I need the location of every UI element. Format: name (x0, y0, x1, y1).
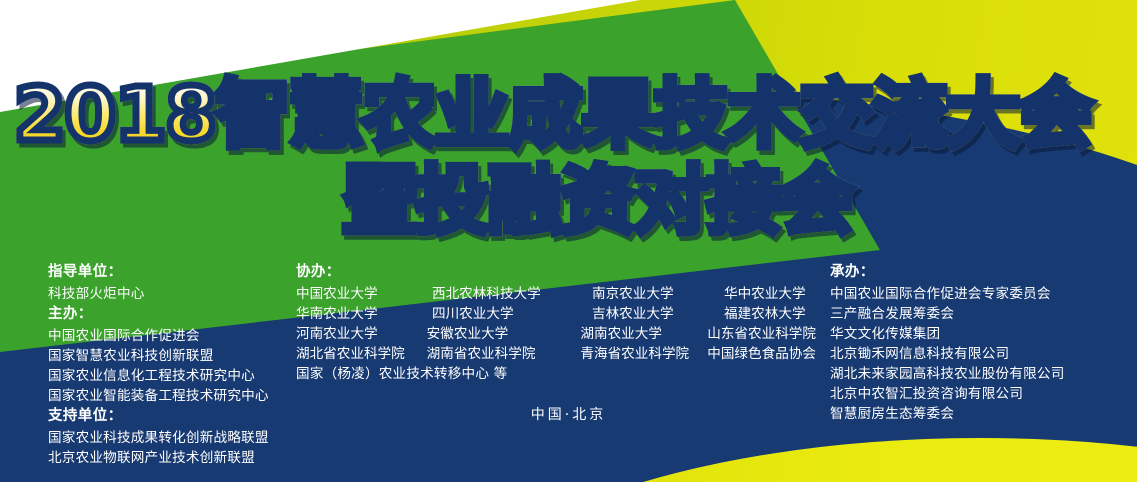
coorganizer-cell: 南京农业大学 (592, 284, 724, 304)
organizer-item-0: 中国农业国际合作促进会 (48, 326, 298, 346)
conference-banner: 2018智慧农业成果技术交流大会 暨投融资对接会 指导单位： 科技部火炬中心 主… (0, 0, 1137, 482)
host-item-3: 北京锄禾网信息科技有限公司 (830, 344, 1130, 364)
coorganizer-cell: 四川农业大学 (432, 304, 592, 324)
left-info-column: 指导单位： 科技部火炬中心 主办： 中国农业国际合作促进会 国家智慧农业科技创新… (48, 262, 298, 468)
coorganizer-row: 河南农业大学 安徽农业大学 湖南农业大学 山东省农业科学院 (296, 324, 816, 344)
organizer-item-2: 国家农业信息化工程技术研究中心 (48, 366, 298, 386)
host-item-2: 华文文化传媒集团 (830, 324, 1130, 344)
coorganizer-cell: 中国农业大学 (296, 284, 432, 304)
coorganizer-footer: 国家（杨凌）农业技术转移中心 等 (296, 364, 816, 384)
coorganizer-cell: 青海省农业科学院 (580, 344, 707, 364)
banner-title-line-2: 暨投融资对接会 (0, 164, 1137, 238)
coorganizer-cell: 湖南农业大学 (580, 324, 707, 344)
host-item-0: 中国农业国际合作促进会专家委员会 (830, 284, 1130, 304)
coorganizer-cell: 西北农林科技大学 (432, 284, 592, 304)
host-column: 承办： 中国农业国际合作促进会专家委员会 三产融合发展筹委会 华文文化传媒集团 … (830, 262, 1130, 424)
coorganizer-cell: 华中农业大学 (724, 284, 806, 304)
host-heading: 承办： (830, 262, 1130, 283)
coorganizer-cell: 中国绿色食品协会 (707, 344, 816, 364)
coorganizer-column: 协办： 中国农业大学 西北农林科技大学 南京农业大学 华中农业大学 华南农业大学… (296, 262, 816, 384)
coorganizer-cell: 安徽农业大学 (427, 324, 581, 344)
info-columns: 指导单位： 科技部火炬中心 主办： 中国农业国际合作促进会 国家智慧农业科技创新… (0, 262, 1137, 462)
coorganizer-cell: 吉林农业大学 (592, 304, 724, 324)
coorganizer-row: 湖北省农业科学院 湖南省农业科学院 青海省农业科学院 中国绿色食品协会 (296, 344, 816, 364)
coorganizer-row: 华南农业大学 四川农业大学 吉林农业大学 福建农林大学 (296, 304, 816, 324)
coorganizer-cell: 华南农业大学 (296, 304, 432, 324)
organizer-item-3: 国家农业智能装备工程技术研究中心 (48, 386, 298, 406)
coorganizer-heading: 协办： (296, 262, 816, 283)
title-block: 2018智慧农业成果技术交流大会 暨投融资对接会 (0, 78, 1137, 238)
host-item-5: 北京中农智汇投资咨询有限公司 (830, 384, 1130, 404)
coorganizer-cell: 湖北省农业科学院 (296, 344, 427, 364)
organizer-heading: 主办： (48, 304, 298, 325)
guidance-heading: 指导单位： (48, 262, 298, 283)
supporter-item-1: 北京农业物联网产业技术创新联盟 (48, 448, 298, 468)
coorganizer-cell: 山东省农业科学院 (707, 324, 816, 344)
host-item-1: 三产融合发展筹委会 (830, 304, 1130, 324)
coorganizer-grid: 中国农业大学 西北农林科技大学 南京农业大学 华中农业大学 华南农业大学 四川农… (296, 284, 816, 364)
coorganizer-cell: 河南农业大学 (296, 324, 427, 344)
supporter-item-0: 国家农业科技成果转化创新战略联盟 (48, 428, 298, 448)
banner-title-line-1: 2018智慧农业成果技术交流大会 (0, 78, 1137, 152)
guidance-item-0: 科技部火炬中心 (48, 284, 298, 304)
coorganizer-cell: 湖南省农业科学院 (427, 344, 581, 364)
coorganizer-cell: 福建农林大学 (724, 304, 806, 324)
event-location: 中国·北京 (0, 404, 1137, 424)
coorganizer-row: 中国农业大学 西北农林科技大学 南京农业大学 华中农业大学 (296, 284, 816, 304)
organizer-item-1: 国家智慧农业科技创新联盟 (48, 346, 298, 366)
host-item-4: 湖北未来家园高科技农业股份有限公司 (830, 364, 1130, 384)
